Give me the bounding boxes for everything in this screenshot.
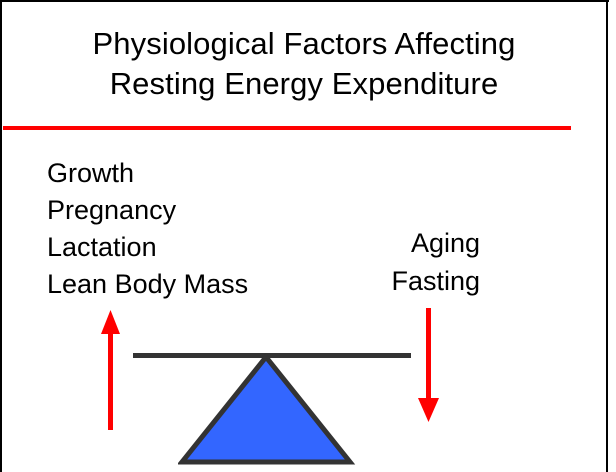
increase-factors-list: Growth Pregnancy Lactation Lean Body Mas…	[47, 155, 248, 303]
slide-title-line-1: Physiological Factors Affecting	[8, 24, 600, 64]
increase-factor-lactation: Lactation	[47, 229, 248, 266]
slide-border-top	[0, 0, 609, 2]
decrease-arrow-down-icon	[414, 306, 442, 426]
slide-border-right	[606, 0, 608, 472]
decrease-factor-aging: Aging	[328, 224, 480, 262]
balance-fulcrum-triangle-icon	[178, 352, 356, 472]
slide-title: Physiological Factors Affecting Resting …	[8, 24, 600, 104]
increase-factor-lean-body-mass: Lean Body Mass	[47, 266, 248, 303]
slide-title-line-2: Resting Energy Expenditure	[8, 64, 600, 104]
decrease-factor-fasting: Fasting	[328, 262, 480, 300]
increase-factor-pregnancy: Pregnancy	[47, 192, 248, 229]
slide-border-left	[0, 0, 2, 472]
increase-factor-growth: Growth	[47, 155, 248, 192]
increase-arrow-up-icon	[99, 308, 123, 432]
title-divider-rule	[3, 126, 571, 130]
slide-canvas: Physiological Factors Affecting Resting …	[0, 0, 616, 472]
decrease-factors-list: Aging Fasting	[328, 224, 480, 300]
